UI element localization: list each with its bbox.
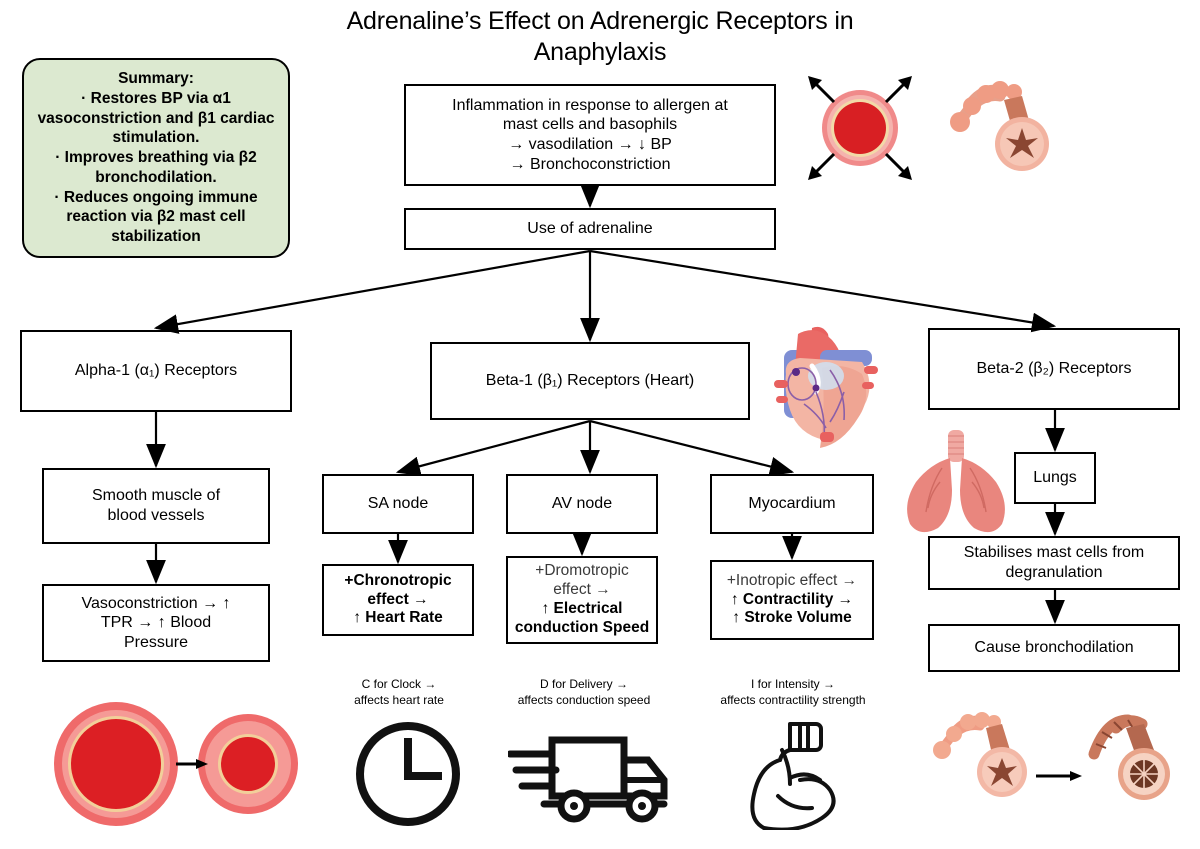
summary-heading: Summary: <box>33 69 279 89</box>
clock-icon <box>352 718 464 830</box>
beta2-stabilise-box: Stabilises mast cells from degranulation <box>928 536 1180 590</box>
beta1-node-box-sa: SA node <box>322 474 474 534</box>
beta1-effect-box-av: +Dromotropic effect → ↑ Electrical condu… <box>506 556 658 644</box>
receptor-label-beta1: Beta-1 (β₁) Receptors (Heart) <box>437 371 743 391</box>
heart-anatomy-image <box>760 322 888 450</box>
diagram-canvas: Adrenaline’s Effect on Adrenergic Recept… <box>0 0 1200 849</box>
delivery-truck-icon <box>508 726 668 826</box>
receptor-label-alpha1: Alpha-1 (α₁) Receptors <box>27 361 285 381</box>
alpha-effect-line-1: Vasoconstriction → ↑ <box>49 594 263 614</box>
av-effect-line-3: ↑ Electrical <box>513 600 651 619</box>
bronchodilation-comparison-image <box>930 694 1180 834</box>
alpha-effect-line-3: Pressure <box>49 633 263 653</box>
trigger-line-1: Inflammation in response to allergen at <box>411 96 769 116</box>
av-effect-line-1: +Dromotropic <box>513 562 651 581</box>
mnemonic-caption-myo: I for Intensity → affects contractility … <box>688 676 898 708</box>
beta2-stabilise-line-1: Stabilises mast cells from <box>935 543 1173 563</box>
alpha-target-line-1: Smooth muscle of <box>49 486 263 506</box>
myo-effect-line-1: +Inotropic effect → <box>717 572 867 591</box>
beta1-node-label-av: AV node <box>513 494 651 514</box>
trigger-line-4: → Bronchoconstriction <box>411 155 769 175</box>
beta1-node-box-myo: Myocardium <box>710 474 874 534</box>
beta1-effect-box-myo: +Inotropic effect → ↑ Contractility → ↑ … <box>710 560 874 640</box>
summary-bullet-1: · Restores BP via α1 vasoconstriction an… <box>33 89 279 148</box>
mnemonic-myo-line-2: affects contractility strength <box>688 692 898 708</box>
alpha-effect-line-2: TPR → ↑ Blood <box>49 613 263 633</box>
mnemonic-caption-sa: C for Clock → affects heart rate <box>312 676 486 708</box>
receptor-box-beta1: Beta-1 (β₁) Receptors (Heart) <box>430 342 750 420</box>
vasodilated-blood-vessel-image <box>800 68 920 188</box>
receptor-box-beta2: Beta-2 (β₂) Receptors <box>928 328 1180 410</box>
mnemonic-caption-av: D for Delivery → affects conduction spee… <box>486 676 682 708</box>
trigger-box: Inflammation in response to allergen at … <box>404 84 776 186</box>
page-title: Adrenaline’s Effect on Adrenergic Recept… <box>300 6 900 68</box>
beta2-bronchodilation-label: Cause bronchodilation <box>935 638 1173 658</box>
myo-effect-line-2: ↑ Contractility → <box>717 591 867 610</box>
sa-effect-line-1: +Chronotropic <box>329 572 467 591</box>
intervention-box: Use of adrenaline <box>404 208 776 250</box>
vasoconstriction-comparison-image <box>40 690 320 840</box>
lungs-image <box>896 428 1016 538</box>
beta2-organ-box: Lungs <box>1014 452 1096 504</box>
summary-bullet-3: · Reduces ongoing immune reaction via β2… <box>33 188 279 247</box>
alpha-target-box: Smooth muscle of blood vessels <box>42 468 270 544</box>
mnemonic-myo-line-1: I for Intensity → <box>688 676 898 692</box>
beta1-effect-box-sa: +Chronotropic effect → ↑ Heart Rate <box>322 564 474 636</box>
myo-effect-line-3: ↑ Stroke Volume <box>717 609 867 628</box>
beta2-organ-label: Lungs <box>1021 468 1089 488</box>
trigger-line-2: mast cells and basophils <box>411 115 769 135</box>
mnemonic-av-line-2: affects conduction speed <box>486 692 682 708</box>
receptor-box-alpha1: Alpha-1 (α₁) Receptors <box>20 330 292 412</box>
mnemonic-av-line-1: D for Delivery → <box>486 676 682 692</box>
sa-effect-line-2: effect → <box>329 591 467 610</box>
summary-bullet-2: · Improves breathing via β2 bronchodilat… <box>33 148 279 187</box>
sa-effect-line-3: ↑ Heart Rate <box>329 609 467 628</box>
av-effect-line-4: conduction Speed <box>513 619 651 638</box>
mnemonic-sa-line-1: C for Clock → <box>312 676 486 692</box>
trigger-line-3: → vasodilation → ↓ BP <box>411 135 769 155</box>
flexed-bicep-icon <box>738 716 848 830</box>
alpha-target-line-2: blood vessels <box>49 506 263 526</box>
beta2-bronchodilation-box: Cause bronchodilation <box>928 624 1180 672</box>
intervention-label: Use of adrenaline <box>411 219 769 239</box>
beta1-node-label-myo: Myocardium <box>717 494 867 514</box>
mnemonic-sa-line-2: affects heart rate <box>312 692 486 708</box>
beta1-node-label-sa: SA node <box>329 494 467 514</box>
beta2-stabilise-line-2: degranulation <box>935 563 1173 583</box>
receptor-label-beta2: Beta-2 (β₂) Receptors <box>935 359 1173 379</box>
summary-callout: Summary: · Restores BP via α1 vasoconstr… <box>22 58 290 258</box>
av-effect-line-2: effect → <box>513 581 651 600</box>
beta1-node-box-av: AV node <box>506 474 658 534</box>
constricted-bronchiole-image <box>938 62 1066 182</box>
alpha-effect-box: Vasoconstriction → ↑ TPR → ↑ Blood Press… <box>42 584 270 662</box>
